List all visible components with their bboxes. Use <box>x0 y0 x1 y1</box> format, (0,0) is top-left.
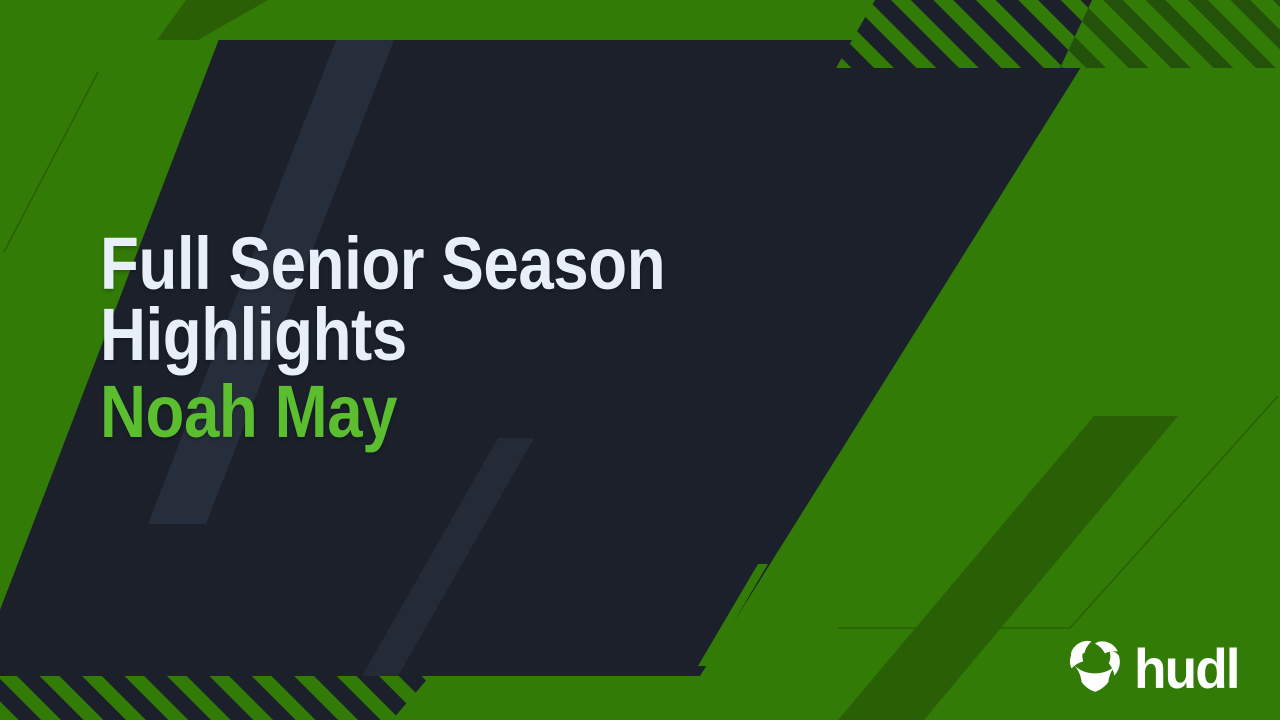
hudl-logo: hudl <box>1066 639 1244 698</box>
hudl-wordmark: hudl <box>1134 641 1239 697</box>
title-line-2: Highlights <box>100 299 719 370</box>
highlight-title-card: Full Senior Season Highlights Noah May <box>0 0 1280 720</box>
title-block: Full Senior Season Highlights Noah May <box>100 228 820 450</box>
subject-name: Noah May <box>100 374 719 449</box>
hudl-pinwheel-icon <box>1066 639 1124 698</box>
title-line-1: Full Senior Season <box>100 228 719 299</box>
